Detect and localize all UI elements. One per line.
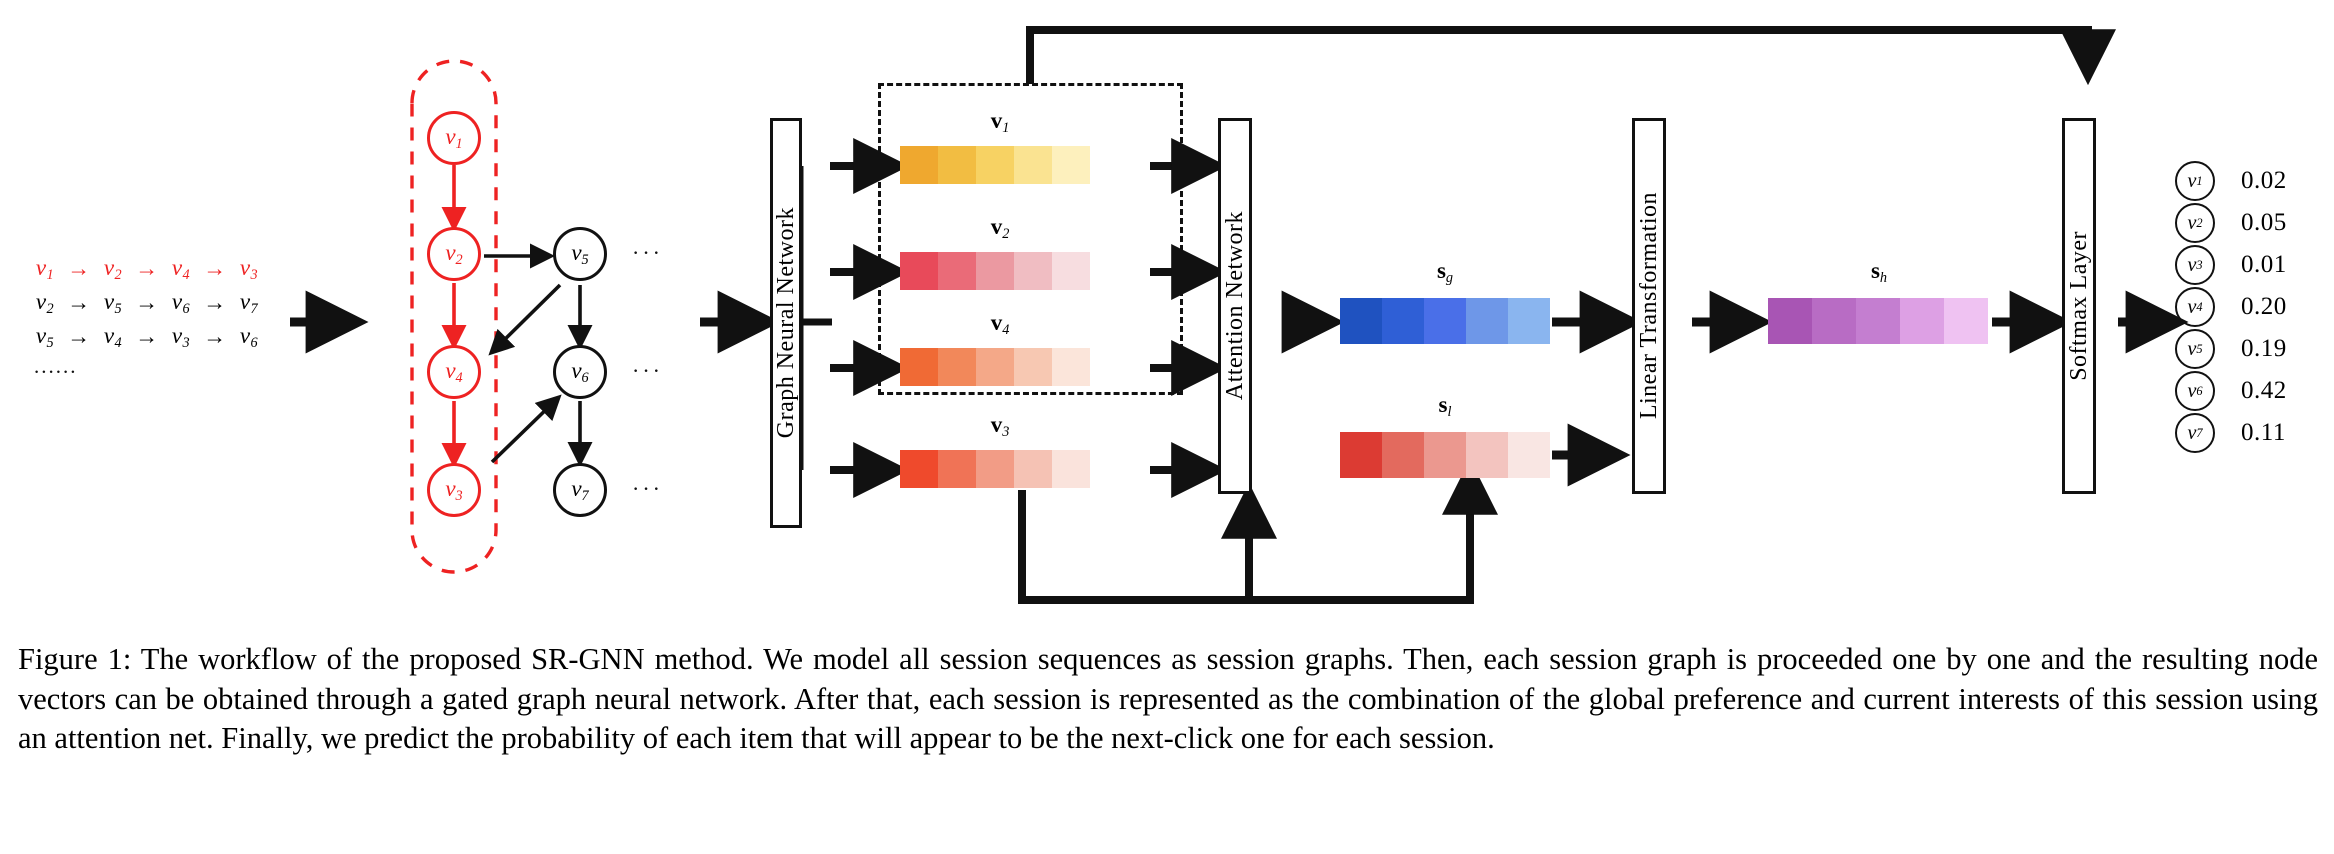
vector-cell: [1014, 252, 1052, 290]
output-probability: 0.01: [2241, 251, 2287, 279]
vector-cell: [1382, 298, 1424, 344]
module-label: Attention Network: [1223, 211, 1247, 400]
vector-cell: [1382, 432, 1424, 478]
vector-cell: [1466, 432, 1508, 478]
vector-v1: [900, 146, 1090, 184]
module-label: Graph Neural Network: [774, 207, 798, 438]
output-item-node: v3: [2175, 245, 2215, 285]
output-item-node: v7: [2175, 413, 2215, 453]
output-item-node: v2: [2175, 203, 2215, 243]
vector-label-sl: sl: [1340, 392, 1550, 421]
vector-cell: [938, 348, 976, 386]
output-probability: 0.02: [2241, 167, 2287, 195]
vector-cell: [1052, 146, 1090, 184]
module-label: Softmax Layer: [2067, 231, 2091, 381]
session-sequence-row: v2 → v5 → v6 → v7: [28, 286, 278, 320]
output-row: v7 0.11: [2175, 412, 2287, 454]
session-sequences-list: v1 → v2 → v4 → v3 v2 → v5 → v6 → v7 v5 →…: [28, 252, 278, 379]
vector-cell: [976, 450, 1014, 488]
vector-v2: [900, 252, 1090, 290]
vector-cell: [1424, 298, 1466, 344]
vector-label-sh: sh: [1768, 258, 1990, 287]
vector-label-v2: v2: [900, 214, 1100, 243]
output-row: v1 0.02: [2175, 160, 2287, 202]
sequence-node: v4: [96, 323, 130, 352]
vector-label-sg: sg: [1340, 258, 1550, 287]
sequence-node: v5: [96, 289, 130, 318]
vector-cell: [900, 146, 938, 184]
output-item-node: v5: [2175, 329, 2215, 369]
vector-cell: [1944, 298, 1988, 344]
vector-cell: [900, 450, 938, 488]
graph-node-v6[interactable]: v6: [553, 345, 607, 399]
output-probability: 0.11: [2241, 419, 2286, 447]
output-row: v4 0.20: [2175, 286, 2287, 328]
vector-cell: [1508, 298, 1550, 344]
sequence-arrow-icon: →: [198, 256, 232, 282]
output-row: v3 0.01: [2175, 244, 2287, 286]
sequence-node: v5: [28, 323, 62, 352]
vector-sg: [1340, 298, 1550, 344]
session-sequence-row: v5 → v4 → v3 → v6: [28, 320, 278, 354]
vector-cell: [938, 146, 976, 184]
graph-ellipsis-3: ···: [632, 476, 663, 502]
sequence-arrow-icon: →: [62, 324, 96, 350]
vector-cell: [1052, 450, 1090, 488]
sequence-node: v6: [232, 323, 266, 352]
vector-cell: [1900, 298, 1944, 344]
sequence-node: v3: [232, 255, 266, 284]
sequence-arrow-icon: →: [198, 290, 232, 316]
output-row: v5 0.19: [2175, 328, 2287, 370]
output-probability-list: v1 0.02 v2 0.05 v3 0.01 v4 0.20 v5 0.19 …: [2175, 160, 2287, 454]
graph-node-v2[interactable]: v2: [427, 227, 481, 281]
vector-cell: [1424, 432, 1466, 478]
figure-caption: Figure 1: The workflow of the proposed S…: [18, 640, 2318, 759]
vector-v4: [900, 348, 1090, 386]
vector-cell: [1768, 298, 1812, 344]
module-graph-neural-network[interactable]: Graph Neural Network: [770, 118, 802, 528]
module-linear-transformation[interactable]: Linear Transformation: [1632, 118, 1666, 494]
vector-sh: [1768, 298, 1988, 344]
module-softmax-layer[interactable]: Softmax Layer: [2062, 118, 2096, 494]
output-row: v6 0.42: [2175, 370, 2287, 412]
vector-cell: [1812, 298, 1856, 344]
sequence-ellipsis: ......: [28, 354, 278, 379]
graph-ellipsis-1: ···: [632, 240, 663, 266]
sequence-node: v6: [164, 289, 198, 318]
graph-node-v5[interactable]: v5: [553, 227, 607, 281]
arrow-sl-to-attention: [1022, 494, 1249, 600]
graph-node-v3[interactable]: v3: [427, 463, 481, 517]
figure-canvas: v1 → v2 → v4 → v3 v2 → v5 → v6 → v7 v5 →…: [0, 0, 2334, 854]
graph-node-v7[interactable]: v7: [553, 463, 607, 517]
vector-label-v3: v3: [900, 412, 1100, 441]
vector-cell: [938, 450, 976, 488]
vector-cell: [1052, 252, 1090, 290]
vector-cell: [900, 348, 938, 386]
vector-cell: [976, 252, 1014, 290]
sequence-node: v7: [232, 289, 266, 318]
vector-cell: [1466, 298, 1508, 344]
session-sequence-row: v1 → v2 → v4 → v3: [28, 252, 278, 286]
output-probability: 0.19: [2241, 335, 2287, 363]
vector-cell: [1052, 348, 1090, 386]
vector-label-v1: v1: [900, 108, 1100, 137]
output-item-node: v4: [2175, 287, 2215, 327]
output-item-node: v1: [2175, 161, 2215, 201]
graph-ellipsis-2: ···: [632, 358, 663, 384]
graph-node-v4[interactable]: v4: [427, 345, 481, 399]
sequence-node: v1: [28, 255, 62, 284]
vector-cell: [1014, 348, 1052, 386]
vector-cell: [938, 252, 976, 290]
vector-cell: [1014, 450, 1052, 488]
vector-cell: [1340, 298, 1382, 344]
output-probability: 0.20: [2241, 293, 2287, 321]
sequence-arrow-icon: →: [130, 290, 164, 316]
module-label: Linear Transformation: [1637, 192, 1661, 419]
vector-cell: [976, 146, 1014, 184]
module-attention-network[interactable]: Attention Network: [1218, 118, 1252, 494]
sequence-arrow-icon: →: [62, 290, 96, 316]
output-row: v2 0.05: [2175, 202, 2287, 244]
sequence-node: v4: [164, 255, 198, 284]
feedback-path-top: [1030, 30, 2088, 84]
vector-cell: [1856, 298, 1900, 344]
graph-node-v1[interactable]: v1: [427, 111, 481, 165]
vector-cell: [1508, 432, 1550, 478]
sequence-arrow-icon: →: [62, 256, 96, 282]
sequence-arrow-icon: →: [130, 324, 164, 350]
sequence-arrow-icon: →: [198, 324, 232, 350]
sequence-node: v2: [28, 289, 62, 318]
sequence-arrow-icon: →: [130, 256, 164, 282]
vector-cell: [900, 252, 938, 290]
output-probability: 0.42: [2241, 377, 2287, 405]
vector-v3: [900, 450, 1090, 488]
vector-label-v4: v4: [900, 310, 1100, 339]
vector-cell: [976, 348, 1014, 386]
output-probability: 0.05: [2241, 209, 2287, 237]
session-graph: v1 v2 v4 v3 v5 v6 v7 ··· ··· ···: [392, 40, 742, 390]
sequence-node: v3: [164, 323, 198, 352]
sequence-node: v2: [96, 255, 130, 284]
vector-sl: [1340, 432, 1550, 478]
output-item-node: v6: [2175, 371, 2215, 411]
vector-cell: [1014, 146, 1052, 184]
vector-cell: [1340, 432, 1382, 478]
